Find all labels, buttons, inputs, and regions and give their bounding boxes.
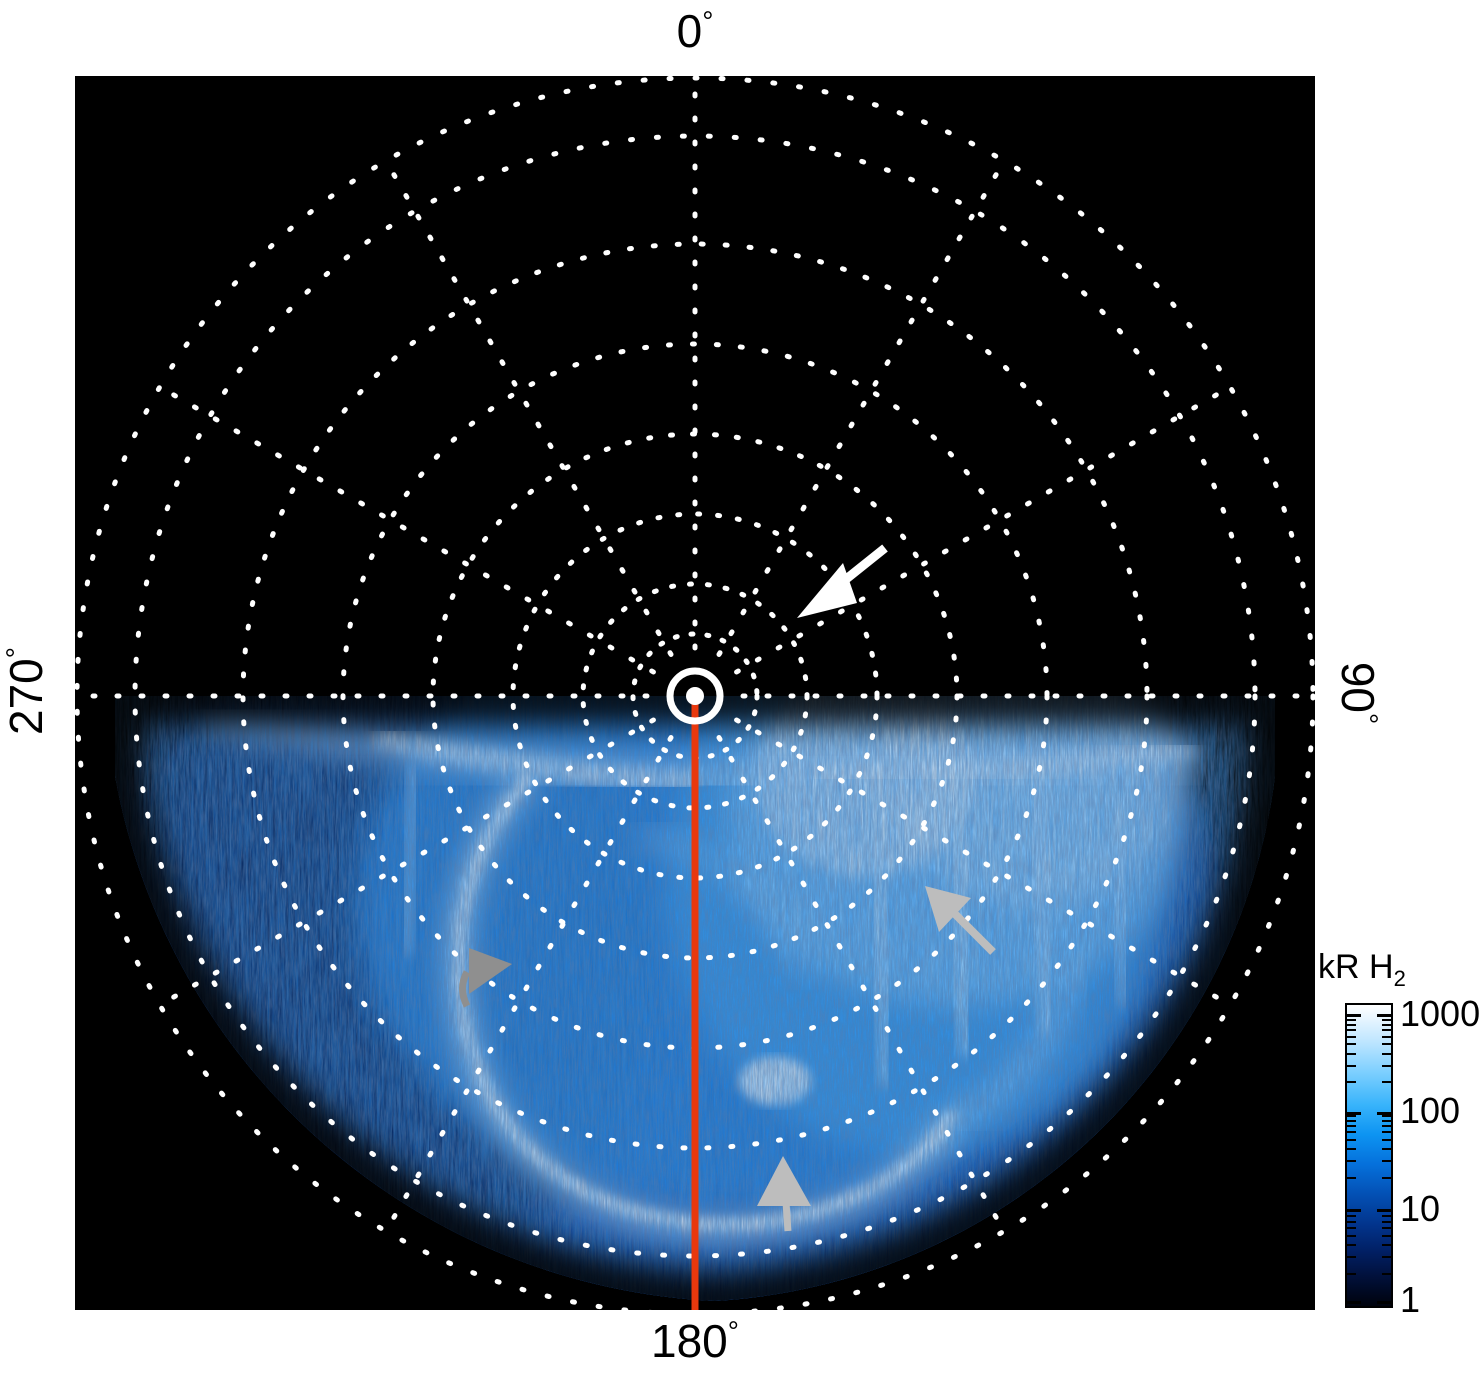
colorbar-major-tick bbox=[1377, 1301, 1391, 1304]
colorbar-minor-tick bbox=[1347, 1125, 1356, 1127]
colorbar-minor-tick bbox=[1382, 1043, 1391, 1045]
colorbar-minor-tick bbox=[1347, 1053, 1356, 1055]
colorbar-minor-tick bbox=[1382, 1120, 1391, 1122]
colorbar-minor-tick bbox=[1347, 1235, 1356, 1237]
colorbar-major-tick bbox=[1377, 1014, 1391, 1017]
colorbar-minor-tick bbox=[1347, 1131, 1356, 1133]
colorbar-minor-tick bbox=[1347, 1273, 1356, 1275]
polar-projection-image bbox=[75, 76, 1315, 1310]
colorbar-minor-tick bbox=[1382, 1148, 1391, 1150]
colorbar-minor-tick bbox=[1382, 1053, 1391, 1055]
colorbar-minor-tick bbox=[1347, 1256, 1356, 1258]
colorbar-major-tick bbox=[1347, 1014, 1361, 1017]
colorbar-minor-tick bbox=[1382, 1036, 1391, 1038]
colorbar-minor-tick bbox=[1382, 1081, 1391, 1083]
colorbar-tick-label: 10 bbox=[1400, 1188, 1440, 1230]
axis-label-bottom: 180° bbox=[0, 1318, 1390, 1364]
colorbar-minor-tick bbox=[1347, 1029, 1356, 1031]
colorbar-minor-tick bbox=[1382, 1177, 1391, 1179]
colorbar-minor-tick bbox=[1347, 1019, 1356, 1021]
colorbar-minor-tick bbox=[1382, 1256, 1391, 1258]
colorbar-minor-tick bbox=[1382, 1065, 1391, 1067]
colorbar-minor-tick bbox=[1347, 1148, 1356, 1150]
colorbar-major-tick bbox=[1347, 1301, 1361, 1304]
colorbar-minor-tick bbox=[1382, 1244, 1391, 1246]
colorbar-minor-tick bbox=[1382, 1131, 1391, 1133]
colorbar-minor-tick bbox=[1347, 1221, 1356, 1223]
colorbar-minor-tick bbox=[1347, 1081, 1356, 1083]
colorbar-minor-tick bbox=[1382, 1160, 1391, 1162]
colorbar-minor-tick bbox=[1382, 1029, 1391, 1031]
colorbar-minor-tick bbox=[1382, 1019, 1391, 1021]
colorbar-minor-tick bbox=[1347, 1036, 1356, 1038]
colorbar-minor-tick bbox=[1382, 1139, 1391, 1141]
colorbar-minor-tick bbox=[1382, 1235, 1391, 1237]
colorbar-minor-tick bbox=[1347, 1065, 1356, 1067]
colorbar-scale bbox=[1345, 1003, 1393, 1308]
colorbar-ticks bbox=[1347, 1005, 1391, 1306]
colorbar: kR H2 1000100101 bbox=[1318, 948, 1481, 1323]
colorbar-tick-label: 1 bbox=[1400, 1279, 1420, 1321]
colorbar-minor-tick bbox=[1347, 1043, 1356, 1045]
colorbar-minor-tick bbox=[1347, 1115, 1356, 1117]
colorbar-minor-tick bbox=[1347, 1024, 1356, 1026]
colorbar-minor-tick bbox=[1382, 1210, 1391, 1212]
colorbar-tick-label: 100 bbox=[1400, 1090, 1460, 1132]
colorbar-minor-tick bbox=[1347, 1177, 1356, 1179]
colorbar-minor-tick bbox=[1382, 1227, 1391, 1229]
colorbar-minor-tick bbox=[1382, 1024, 1391, 1026]
colorbar-title: kR H2 bbox=[1318, 948, 1406, 987]
colorbar-minor-tick bbox=[1382, 1115, 1391, 1117]
figure-root: 0° 180° 270° 90° bbox=[0, 0, 1481, 1386]
colorbar-tick-label: 1000 bbox=[1400, 993, 1480, 1035]
colorbar-minor-tick bbox=[1382, 1125, 1391, 1127]
axis-label-right: 90° bbox=[1335, 623, 1381, 763]
axis-label-left: 270° bbox=[3, 621, 49, 761]
colorbar-minor-tick bbox=[1347, 1160, 1356, 1162]
colorbar-minor-tick bbox=[1347, 1120, 1356, 1122]
colorbar-minor-tick bbox=[1347, 1210, 1356, 1212]
colorbar-minor-tick bbox=[1382, 1221, 1391, 1223]
colorbar-minor-tick bbox=[1347, 1139, 1356, 1141]
colorbar-minor-tick bbox=[1347, 1227, 1356, 1229]
axis-label-top: 0° bbox=[0, 8, 1390, 54]
colorbar-minor-tick bbox=[1382, 1215, 1391, 1217]
polar-plot-area[interactable] bbox=[75, 76, 1315, 1310]
colorbar-minor-tick bbox=[1347, 1244, 1356, 1246]
colorbar-minor-tick bbox=[1347, 1215, 1356, 1217]
colorbar-minor-tick bbox=[1382, 1273, 1391, 1275]
